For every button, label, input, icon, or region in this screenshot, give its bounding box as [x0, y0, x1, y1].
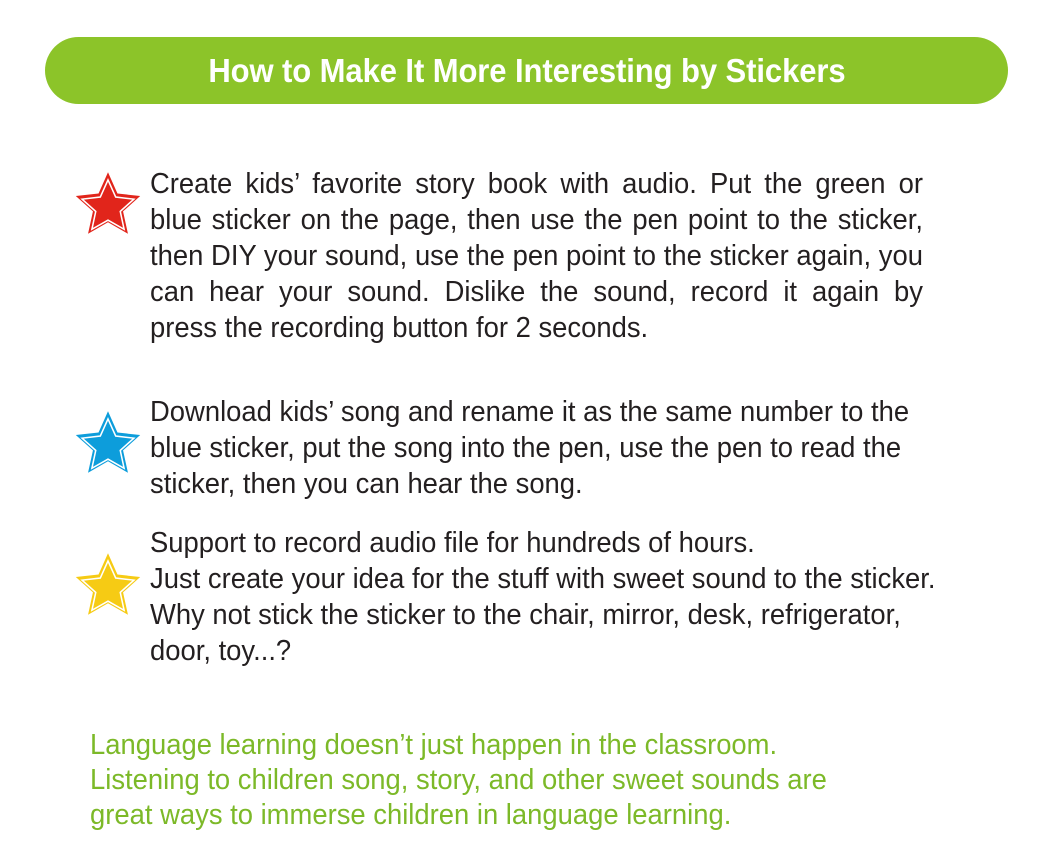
list-item: Download kids’ song and rename it as the… [0, 388, 1060, 523]
header-banner: How to Make It More Interesting by Stick… [45, 37, 1008, 104]
list-item: Create kids’ favorite story book with au… [0, 160, 1060, 388]
list-item-text: Create kids’ favorite story book with au… [150, 166, 923, 346]
star-icon-blue [72, 407, 144, 477]
sticker-instructions-page: How to Make It More Interesting by Stick… [0, 0, 1060, 867]
instruction-list: Create kids’ favorite story book with au… [0, 160, 1060, 693]
star-icon-red [72, 168, 144, 238]
page-title: How to Make It More Interesting by Stick… [208, 54, 845, 87]
list-item: Support to record audio file for hundred… [0, 523, 1060, 693]
star-icon-yellow [72, 549, 144, 619]
list-item-text: Download kids’ song and rename it as the… [150, 394, 934, 502]
footer-note: Language learning doesn’t just happen in… [90, 728, 922, 833]
footer-note-line-1: Language learning doesn’t just happen in… [90, 728, 922, 763]
footer-note-line-2: Listening to children song, story, and o… [90, 763, 922, 798]
list-item-text: Support to record audio file for hundred… [150, 525, 936, 669]
footer-note-line-3: great ways to immerse children in langua… [90, 798, 922, 833]
